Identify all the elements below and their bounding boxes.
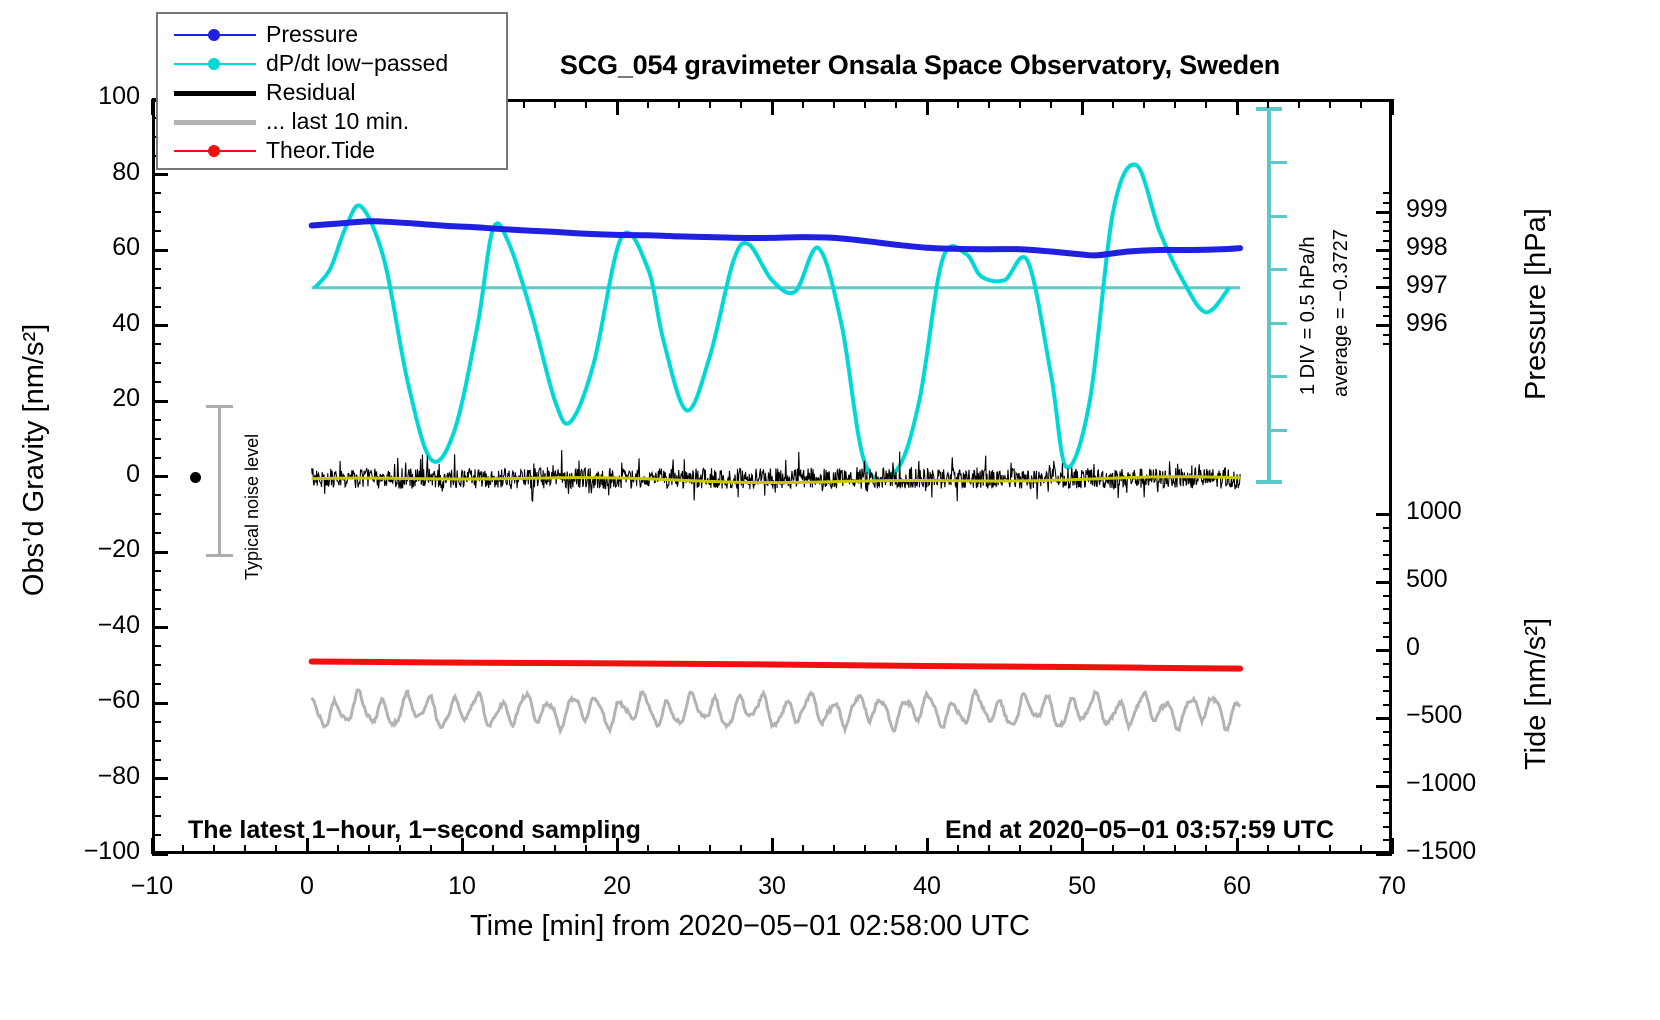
axis-tick-label: 0	[1406, 633, 1420, 662]
axis-tick	[1143, 845, 1145, 854]
legend-item-dpdt: dP/dt low−passed	[158, 49, 506, 78]
axis-tick	[1143, 99, 1145, 108]
axis-tick	[1383, 771, 1392, 773]
axis-tick	[771, 99, 774, 115]
axis-tick	[152, 287, 161, 289]
note-sampling: The latest 1−hour, 1−second sampling	[188, 816, 641, 845]
axis-tick	[616, 99, 619, 115]
chart-root: SCG_054 gravimeter Onsala Space Observat…	[0, 0, 1660, 1020]
axis-tick	[1383, 296, 1392, 298]
axis-tick-label: 0	[30, 460, 140, 489]
axis-tick	[152, 343, 161, 345]
axis-tick	[461, 838, 464, 854]
axis-tick	[864, 99, 866, 108]
axis-tick-label: 500	[1406, 565, 1448, 594]
legend-label: Residual	[266, 79, 356, 106]
axis-tick	[1383, 540, 1392, 542]
axis-tick	[1383, 240, 1392, 242]
axis-tick	[152, 777, 168, 780]
axis-tick-label: 10	[417, 872, 507, 901]
chart-title: SCG_054 gravimeter Onsala Space Observat…	[420, 50, 1420, 81]
axis-tick	[1236, 838, 1239, 854]
axis-tick-label: 999	[1406, 195, 1448, 224]
axis-tick	[152, 249, 168, 252]
axis-tick	[1267, 845, 1269, 854]
axis-tick	[1391, 99, 1394, 115]
axis-tick	[1383, 258, 1392, 260]
axis-tick	[1329, 99, 1331, 108]
axis-tick	[678, 845, 680, 854]
axis-tick	[1383, 554, 1392, 556]
axis-tick	[1383, 622, 1392, 624]
scale-div-label: 1 DIV = 0.5 hPa/h	[1297, 237, 1320, 395]
axis-tick	[152, 608, 161, 610]
axis-tick	[1019, 845, 1021, 854]
axis-tick-label: 60	[30, 233, 140, 262]
axis-tick	[1205, 99, 1207, 108]
scale-bar-tick	[1271, 375, 1287, 378]
legend: Pressure dP/dt low−passed Residual ... l…	[156, 12, 508, 170]
axis-tick	[988, 845, 990, 854]
axis-tick	[152, 834, 161, 836]
axis-tick	[833, 99, 835, 108]
axis-tick	[895, 99, 897, 108]
axis-tick	[182, 845, 184, 854]
axis-tick-label: 40	[30, 309, 140, 338]
axis-tick	[523, 845, 525, 854]
note-end-time: End at 2020−05−01 03:57:59 UTC	[945, 816, 1334, 845]
axis-tick	[616, 838, 619, 854]
legend-marker-tide	[174, 141, 256, 161]
axis-tick	[1383, 268, 1392, 270]
axis-tick	[1267, 99, 1269, 108]
legend-item-pressure: Pressure	[158, 20, 506, 49]
axis-tick	[1383, 758, 1392, 760]
scale-bar-cap-bottom	[1256, 480, 1282, 484]
legend-label: Theor.Tide	[266, 137, 375, 164]
axis-tick-label: −40	[30, 611, 140, 640]
axis-tick-label: −500	[1406, 701, 1462, 730]
axis-tick	[554, 99, 556, 108]
axis-tick	[1383, 744, 1392, 746]
axis-tick	[244, 845, 246, 854]
axis-tick-label: 100	[30, 82, 140, 111]
axis-tick	[1383, 306, 1392, 308]
axis-tick	[1383, 277, 1392, 279]
axis-tick	[1174, 845, 1176, 854]
scale-bar-tick	[1271, 268, 1287, 271]
axis-tick	[709, 845, 711, 854]
axis-tick	[152, 740, 161, 742]
axis-tick	[152, 815, 161, 817]
legend-marker-last10	[174, 112, 256, 132]
axis-tick	[1383, 581, 1392, 583]
axis-tick	[1383, 343, 1392, 345]
axis-tick	[152, 570, 161, 572]
axis-tick	[1360, 99, 1362, 108]
axis-tick	[275, 845, 277, 854]
axis-tick	[152, 475, 168, 478]
scale-average-label: average = −0.3727	[1330, 229, 1353, 397]
axis-tick	[152, 702, 168, 705]
axis-tick-label: 50	[1037, 872, 1127, 901]
axis-tick	[833, 845, 835, 854]
axis-tick-label: −10	[107, 872, 197, 901]
axis-tick	[152, 721, 161, 723]
axis-tick-label: 70	[1347, 872, 1437, 901]
noise-bar	[218, 405, 221, 557]
axis-tick-label: −80	[30, 762, 140, 791]
axis-tick	[1383, 513, 1392, 515]
legend-marker-dpdt	[174, 54, 256, 74]
axis-tick	[152, 626, 168, 629]
axis-tick-label: 20	[572, 872, 662, 901]
axis-tick	[152, 457, 161, 459]
axis-tick	[647, 99, 649, 108]
axis-tick-label: 998	[1406, 233, 1448, 262]
legend-marker-residual	[174, 83, 256, 103]
axis-tick	[926, 99, 929, 115]
scale-bar-tick	[1271, 215, 1287, 218]
legend-label: dP/dt low−passed	[266, 50, 448, 77]
axis-tick	[152, 853, 168, 856]
axis-tick	[926, 838, 929, 854]
axis-tick-label: −60	[30, 686, 140, 715]
axis-tick	[1383, 334, 1392, 336]
axis-tick	[152, 306, 161, 308]
legend-item-residual: Residual	[158, 78, 506, 107]
legend-label: Pressure	[266, 21, 358, 48]
axis-tick	[213, 845, 215, 854]
axis-tick	[1383, 230, 1392, 232]
axis-tick	[152, 400, 168, 403]
axis-tick	[1383, 221, 1392, 223]
axis-tick-label: −1500	[1406, 837, 1476, 866]
axis-tick	[152, 268, 161, 270]
axis-tick	[1383, 676, 1392, 678]
axis-tick	[1205, 845, 1207, 854]
axis-tick	[1383, 211, 1392, 213]
axis-tick-label: 996	[1406, 309, 1448, 338]
axis-tick	[740, 845, 742, 854]
axis-tick-label: 80	[30, 158, 140, 187]
axis-tick	[1383, 527, 1392, 529]
axis-tick	[1174, 99, 1176, 108]
noise-level-label: Typical noise level	[242, 434, 263, 580]
axis-tick	[1383, 704, 1392, 706]
axis-tick	[368, 845, 370, 854]
axis-tick	[152, 381, 161, 383]
axis-tick	[306, 838, 309, 854]
scale-bar-tick	[1271, 322, 1287, 325]
y-axis-label-pressure: Pressure [hPa]	[1520, 208, 1553, 400]
axis-tick	[152, 173, 168, 176]
axis-tick	[399, 845, 401, 854]
legend-label: ... last 10 min.	[266, 108, 409, 135]
axis-tick	[152, 419, 161, 421]
axis-tick	[1383, 812, 1392, 814]
axis-tick	[1383, 325, 1392, 327]
axis-tick	[1383, 202, 1392, 204]
axis-tick	[585, 99, 587, 108]
axis-tick	[152, 532, 161, 534]
axis-tick	[1383, 192, 1392, 194]
axis-tick	[771, 838, 774, 854]
axis-tick	[152, 589, 161, 591]
axis-tick	[152, 230, 161, 232]
axis-tick	[1298, 845, 1300, 854]
axis-tick	[152, 796, 161, 798]
axis-tick	[1383, 717, 1392, 719]
axis-tick	[152, 192, 161, 194]
axis-tick-label: −100	[30, 837, 140, 866]
axis-tick	[1383, 608, 1392, 610]
axis-tick	[152, 211, 161, 213]
axis-tick-label: 1000	[1406, 497, 1462, 526]
axis-tick	[1298, 99, 1300, 108]
legend-item-theortide: Theor.Tide	[158, 136, 506, 165]
legend-item-last10: ... last 10 min.	[158, 107, 506, 136]
axis-tick	[1383, 839, 1392, 841]
axis-tick	[802, 99, 804, 108]
axis-tick	[1050, 99, 1052, 108]
axis-tick	[740, 99, 742, 108]
axis-tick-label: 997	[1406, 271, 1448, 300]
axis-tick-label: 40	[882, 872, 972, 901]
axis-tick	[1329, 845, 1331, 854]
axis-tick	[988, 99, 990, 108]
axis-tick-label: 0	[262, 872, 352, 901]
x-axis-label: Time [min] from 2020−05−01 02:58:00 UTC	[0, 910, 1500, 943]
axis-tick	[1383, 595, 1392, 597]
axis-tick	[1383, 690, 1392, 692]
axis-tick	[1383, 649, 1392, 651]
axis-tick	[152, 664, 161, 666]
axis-tick	[1112, 845, 1114, 854]
axis-tick	[492, 845, 494, 854]
scale-bar-tick	[1271, 429, 1287, 432]
axis-tick	[1019, 99, 1021, 108]
noise-center-dot	[190, 472, 201, 483]
axis-tick	[152, 683, 161, 685]
axis-tick	[152, 494, 161, 496]
axis-tick	[152, 362, 161, 364]
noise-bar-cap-bottom	[206, 554, 233, 557]
y-axis-label-tide: Tide [nm/s²]	[1520, 618, 1553, 770]
axis-tick	[585, 845, 587, 854]
axis-tick	[430, 845, 432, 854]
axis-tick	[1112, 99, 1114, 108]
axis-tick	[152, 551, 168, 554]
axis-tick	[1383, 636, 1392, 638]
axis-tick	[1081, 99, 1084, 115]
axis-tick	[957, 99, 959, 108]
axis-tick	[864, 845, 866, 854]
axis-tick	[1236, 99, 1239, 115]
scale-bar-tick	[1271, 161, 1287, 164]
axis-tick	[554, 845, 556, 854]
axis-tick	[152, 645, 161, 647]
axis-tick	[152, 438, 161, 440]
axis-tick	[1383, 799, 1392, 801]
axis-tick	[151, 99, 154, 115]
axis-tick	[1383, 731, 1392, 733]
axis-tick	[1383, 663, 1392, 665]
axis-tick	[337, 845, 339, 854]
axis-tick	[802, 845, 804, 854]
axis-tick	[1050, 845, 1052, 854]
axis-tick	[1081, 838, 1084, 854]
axis-tick	[1383, 249, 1392, 251]
axis-tick-label: 20	[30, 384, 140, 413]
axis-tick	[152, 324, 168, 327]
axis-tick	[1360, 845, 1362, 854]
axis-tick	[152, 759, 161, 761]
axis-tick-label: −20	[30, 535, 140, 564]
axis-tick	[1383, 826, 1392, 828]
axis-tick	[895, 845, 897, 854]
axis-tick-label: −1000	[1406, 769, 1476, 798]
plot-frame	[152, 99, 1392, 854]
axis-tick	[1383, 568, 1392, 570]
axis-tick	[709, 99, 711, 108]
axis-tick	[678, 99, 680, 108]
axis-tick	[152, 513, 161, 515]
axis-tick	[1383, 287, 1392, 289]
axis-tick	[1383, 785, 1392, 787]
legend-marker-pressure	[174, 25, 256, 45]
axis-tick-label: 60	[1192, 872, 1282, 901]
axis-tick	[647, 845, 649, 854]
axis-tick	[957, 845, 959, 854]
axis-tick	[1383, 315, 1392, 317]
axis-tick-label: 30	[727, 872, 817, 901]
axis-tick	[523, 99, 525, 108]
axis-tick	[1383, 853, 1392, 855]
